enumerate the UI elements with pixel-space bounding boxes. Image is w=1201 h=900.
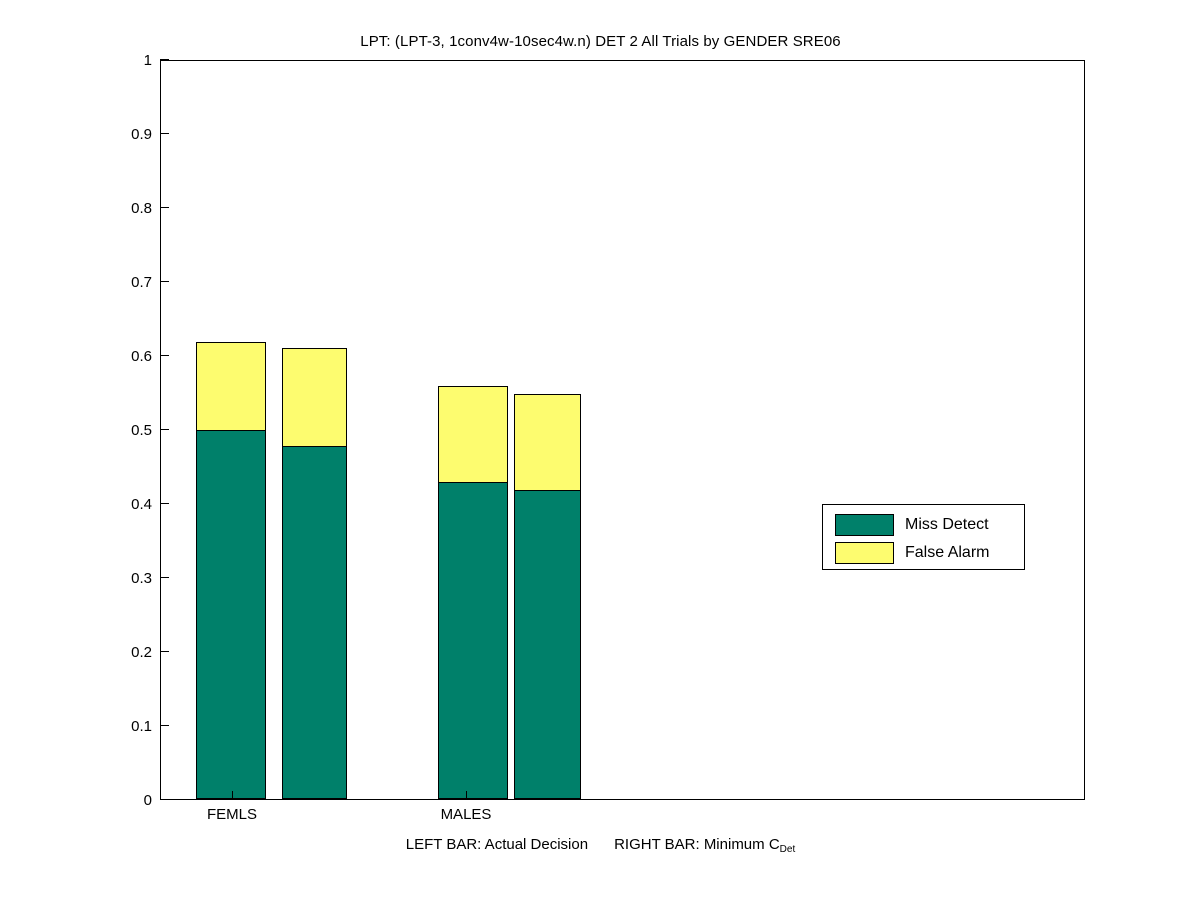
bar-segment-false-alarm[interactable] [438,386,508,484]
y-axis-tick-label: 0.4 [96,497,152,512]
x-axis-tick-label-femls: FEMLS [172,806,292,823]
bar-segment-false-alarm[interactable] [282,348,347,447]
y-axis-tick-mark [160,59,169,60]
y-axis-tick-mark [160,207,169,208]
figure-canvas: LPT: (LPT-3, 1conv4w-10sec4w.n) DET 2 Al… [0,0,1201,900]
bar-femls-mincdet[interactable] [282,347,347,799]
legend-item[interactable]: Miss Detect [823,511,1024,539]
y-axis-tick-mark [160,281,169,282]
y-axis-tick-mark [160,651,169,652]
legend-item[interactable]: False Alarm [823,539,1024,567]
y-axis-tick-label: 0.3 [96,571,152,586]
caption-right-bar-note: RIGHT BAR: Minimum C [614,836,780,853]
y-axis-tick-mark [160,133,169,134]
bar-segment-false-alarm[interactable] [196,342,266,432]
y-axis-tick-label: 0.8 [96,201,152,216]
y-axis-tick-mark [160,355,169,356]
bar-femls-actual[interactable] [196,340,266,799]
y-axis-tick-mark [160,725,169,726]
page-title: LPT: (LPT-3, 1conv4w-10sec4w.n) DET 2 Al… [0,33,1201,51]
plot-area [160,60,1085,800]
y-axis-tick-label: 0.9 [96,127,152,142]
y-axis-tick-mark [160,799,169,800]
legend-color-swatch [835,514,894,536]
bar-segment-false-alarm[interactable] [514,394,581,492]
chart-caption: LEFT BAR: Actual DecisionRIGHT BAR: Mini… [0,836,1201,859]
chart-legend: Miss DetectFalse Alarm [822,504,1025,570]
bar-segment-miss-detect[interactable] [438,482,508,799]
bar-males-actual[interactable] [438,385,508,799]
y-axis-tick-label: 0.7 [96,275,152,290]
x-axis-tick-mark [466,791,467,800]
caption-subscript: Det [780,844,796,855]
x-axis-tick-mark [232,791,233,800]
caption-left-bar-note: LEFT BAR: Actual Decision [406,836,588,853]
y-axis-tick-label: 0.5 [96,423,152,438]
bar-segment-miss-detect[interactable] [196,430,266,799]
bar-segment-miss-detect[interactable] [282,446,347,799]
bar-males-mincdet[interactable] [514,392,581,799]
legend-color-swatch [835,542,894,564]
legend-item-label: False Alarm [905,544,989,562]
y-axis-tick-mark [160,503,169,504]
x-axis-tick-label-males: MALES [406,806,526,823]
y-axis-tick-label: 0.6 [96,349,152,364]
bar-segment-miss-detect[interactable] [514,490,581,799]
y-axis-tick-label: 0.2 [96,645,152,660]
y-axis-tick-label: 0.1 [96,719,152,734]
y-axis-tick-mark [160,429,169,430]
y-axis-tick-label: 0 [96,793,152,808]
y-axis-tick-mark [160,577,169,578]
y-axis-tick-label: 1 [96,53,152,68]
bars-layer [161,61,1084,799]
legend-item-label: Miss Detect [905,516,989,534]
